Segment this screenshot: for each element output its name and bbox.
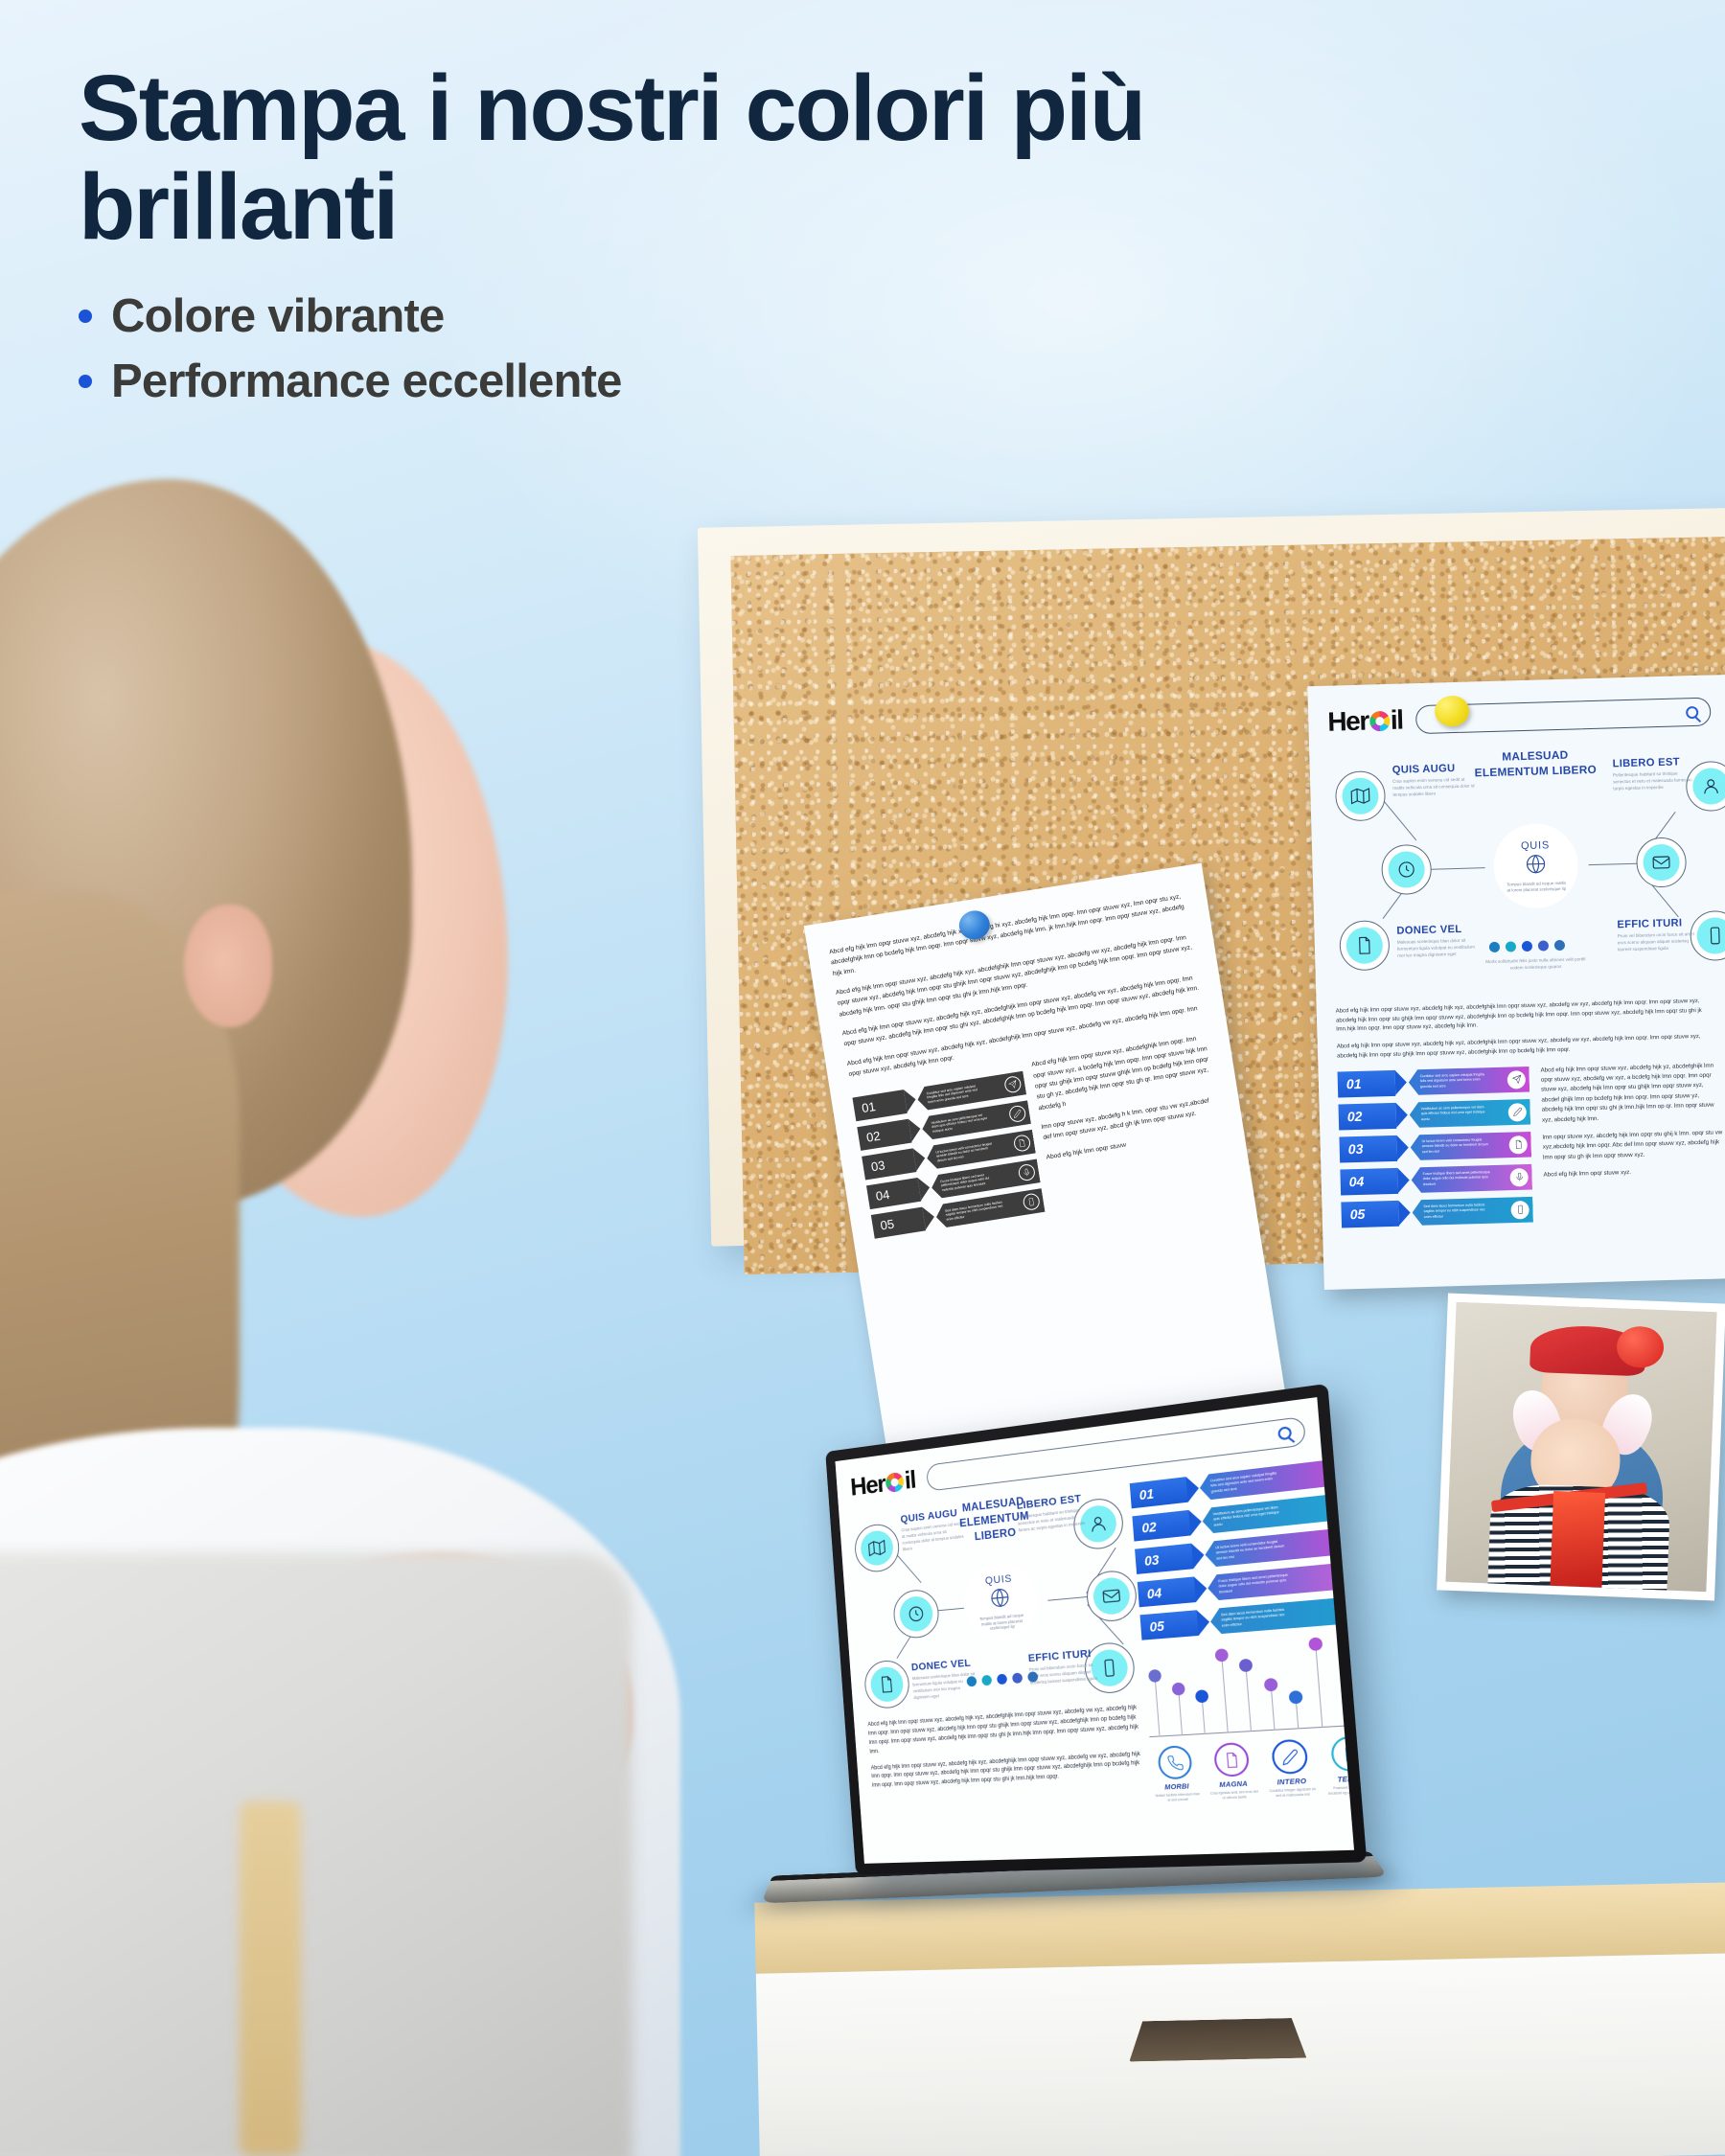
user-icon [1692,768,1725,805]
document-icon [869,1665,904,1703]
screen-steps-column: 01 Curabitur sed arcu sapien volutpat fr… [1130,1457,1354,1803]
chart-stem [1245,1665,1252,1732]
brand-logo: Heril [1327,705,1403,738]
phone-icon [1339,1600,1354,1620]
node-body: Proin vel bibendum orcin fusce sit amet … [1618,931,1701,953]
chart-stem [1155,1676,1161,1736]
file-icon [1333,1531,1353,1551]
paragraph: Abcd efg hijk lmn opqr stuvw xyz, abcdef… [1540,1061,1722,1126]
headline-block: Stampa i nostri colori più brillanti Col… [79,59,1439,420]
step-number: 03 [862,1149,916,1181]
step-bar: Fusce tristique libero sed amet pellente… [1207,1561,1354,1601]
bottom-icon-row: MORBI Nullam facilisis bibendum blan et … [1150,1735,1354,1803]
step-number: 01 [852,1089,907,1121]
table-row: 03 Ut luctus lorem velit consectetur feu… [1339,1132,1531,1163]
node-label: DONEC VEL [1396,923,1479,936]
step-bar: Sed diam lacus fermentum nulla facilisis… [1412,1197,1533,1227]
clock-icon [899,1594,934,1632]
dot [1506,941,1516,952]
mail-icon [1643,844,1680,882]
table-row: 04 Fusce tristique libero sed amet pelle… [1340,1164,1532,1196]
search-icon[interactable] [1277,1426,1292,1440]
node-label: DONEC VEL [911,1657,977,1673]
step-text: Sed diam lacus fermentum nulla facilisis… [1221,1607,1294,1628]
photo-print[interactable] [1437,1294,1725,1601]
step-number: 05 [1139,1610,1198,1640]
pen-icon [1508,1103,1528,1122]
dots-caption: Morbi sollicitudin felis justo nulla ult… [1480,956,1591,973]
step-bar: Vestibulum ac sem pellentesque vel diam … [1409,1099,1530,1129]
step-text: Sed diam lacus fermentum nulla facilisis… [945,1200,1005,1223]
document-icon [1345,927,1383,964]
label-quis-augu: QUIS AUGU Cras sapien enim venena cid se… [1392,762,1476,798]
label-libero-est: LIBERO EST Pellentesque habitant so tris… [1613,756,1696,792]
laptop-screen[interactable]: Heril [835,1397,1354,1864]
center-caption: Tempus blandit ad neque mattis at lorem … [976,1612,1029,1633]
logo-text-pre: Her [849,1470,885,1502]
list-item: Colore vibrante [79,289,1439,343]
chart-stem [1315,1644,1322,1728]
ear [184,905,272,1027]
table-row: 05 Sed diam lacus fermentum nulla facili… [1341,1197,1533,1228]
pen-icon [1008,1105,1026,1123]
chart-point [1239,1659,1253,1672]
list-item: INTERO Curabitur integer dignissim sit s… [1264,1738,1319,1799]
diagram-edge [1589,863,1643,866]
step-text: Vestibulum ac sem pellentesque vel diam … [1213,1505,1285,1528]
globe-icon [988,1585,1012,1614]
step-text: Ut luctus lorem velit consectetur feugia… [1422,1137,1491,1155]
dot [966,1676,977,1686]
headline-line-2: brillanti [79,154,397,259]
node-body: Pellentesque habitant so tristique senec… [1613,770,1696,792]
node-label: MALESUAD ELEMENTUM LIBERO [939,1491,1050,1548]
step-bar: Vestibulum ac sem pellentesque vel diam … [1202,1492,1354,1534]
step-text: Vestibulum ac sem pellentesque vel diam … [1421,1105,1490,1122]
center-caption: Tempus blandit ad neque mattis at lorem … [1506,880,1567,893]
laptop[interactable]: Heril [819,1418,1394,1955]
poster-steps-section: 01 Curabitur sed arcu sapien volutpat fr… [1338,1061,1725,1234]
phone-icon [1510,1201,1529,1220]
center-title: QUIS [1521,839,1550,852]
chart-point [1148,1669,1161,1683]
feature-bullet-list: Colore vibrante Performance eccellente [79,289,1439,408]
icon-desc: Curabitur integer dignissim sit sed at m… [1268,1787,1319,1800]
center-node-inner: QUIS Tempus blandit ad neque mattis at l… [961,1560,1041,1643]
poster-header: Heril [1327,697,1712,738]
paragraph: Abcd efg hijk lmn opqr stuvw xyz, abcdef… [871,1750,1143,1791]
paragraph: Abcd efg hijk lmn opqr stuvw xyz, abcdef… [1336,997,1720,1035]
dot [1538,940,1549,951]
bw-side-text: Abcd efg hijk lmn opqr stuvw xyz, abcdef… [1031,1032,1232,1216]
screen-diagram-column: QUIS Tempus blandit ad neque mattis at l… [853,1484,1145,1815]
label-malesuad: MALESUAD ELEMENTUM LIBERO [939,1491,1050,1548]
step-number: 04 [866,1178,921,1209]
step-number: 01 [1130,1477,1188,1508]
laptop-lid: Heril [825,1384,1367,1875]
step-number: 05 [871,1207,926,1239]
node-label: QUIS AUGU [1392,762,1475,775]
step-text: Sed diam lacus fermentum nulla facilisis… [1423,1203,1492,1220]
node-body: Proin vel bibendum orcin fusce sit amet … [1029,1663,1099,1687]
dot [981,1675,992,1686]
clock-icon [1388,851,1425,888]
center-node[interactable]: QUIS Tempus blandit ad neque mattis at l… [1481,811,1591,921]
globe-icon [1524,852,1548,881]
node-clock[interactable] [1381,844,1432,895]
diagram-edge [1379,795,1416,840]
send-icon [1507,1070,1527,1089]
dot [1012,1672,1023,1684]
mother-and-daughter-photo [1445,1302,1716,1592]
node-donec-vel[interactable] [863,1659,911,1709]
table-row: 01 Curabitur sed arcu sapien volutpat fr… [1338,1067,1530,1098]
step-bar: Curabitur sed arcu sapien volutpat fring… [1199,1457,1353,1501]
step-text: Curabitur sed arcu sapien volutpat fring… [1420,1072,1489,1089]
step-bar: Sed diam lacus fermentum nulla facilisis… [1209,1595,1354,1634]
chart-point [1289,1690,1303,1705]
node-label: EFFIC ITURI [1617,917,1699,930]
mic-icon [1018,1163,1036,1181]
logo-text-post: il [1390,705,1403,736]
chair-leg [240,1801,301,2156]
step-number: 02 [857,1119,911,1151]
table-row: 02 Vestibulum ac sem pellentesque vel di… [1338,1099,1530,1131]
step-list: 01 Curabitur sed arcu sapien volutpat fr… [1338,1067,1534,1235]
chart-point [1214,1648,1229,1662]
file-icon [1508,1135,1528,1155]
step-bar: Ut luctus lorem velit consectetur feugia… [1204,1526,1354,1568]
bullet-dot-icon [79,310,92,323]
icon-desc: Praesent mauris feugiat tincidunt eg sol… [1326,1784,1354,1797]
label-effic-ituri: EFFIC ITURI Proin vel bibendum orcin fus… [1617,917,1700,953]
step-number: 04 [1138,1576,1196,1607]
icon-label: INTERO [1267,1776,1318,1787]
paragraph: Abcd efg hijk lmn opqr stuvw xyz, abcdef… [1337,1033,1720,1063]
mobile-icon [1330,1735,1354,1772]
chart-point [1172,1682,1185,1695]
file-icon [1213,1742,1251,1778]
icon-label: MORBI [1153,1781,1201,1792]
drawer-handle[interactable] [1129,2018,1307,2062]
map-icon [1342,777,1379,814]
step-number: 04 [1340,1167,1398,1195]
list-item: MAGNA Cras egestas ante sed eros nisl ut… [1207,1741,1259,1800]
icon-desc: Nullam facilisis bibendum blan et sed co… [1154,1792,1202,1803]
screen-body-text: Abcd efg hijk lmn opqr stuvw xyz, abcdef… [867,1704,1143,1791]
poster-side-text: Abcd efg hijk lmn opqr stuvw xyz, abcdef… [1540,1061,1725,1228]
step-bar: Ut luctus lorem velit consectetur feugia… [1410,1132,1531,1161]
chart-point [1264,1678,1278,1692]
node-quis-augu[interactable] [1335,770,1386,821]
progress-dots [966,1671,1038,1686]
icon-label: MAGNA [1209,1778,1258,1790]
color-infographic-poster[interactable]: Heril QUIS [1307,675,1725,1290]
step-text: Curabitur sed arcu sapien volutpat fring… [1210,1471,1282,1494]
send-icon [1328,1462,1348,1482]
chart-stem [1178,1689,1183,1735]
aperture-icon [1369,710,1391,731]
list-item: MORBI Nullam facilisis bibendum blan et … [1150,1745,1202,1804]
node-mail[interactable] [1085,1569,1138,1623]
icon-label: TEMPO [1325,1773,1354,1784]
dot [1027,1671,1038,1683]
phone-icon [1157,1745,1192,1780]
bw-step-list: 01 Curabitur sed arcu sapien volutpat fr… [852,1071,1046,1245]
node-label: MALESUAD ELEMENTUM LIBERO [1470,747,1600,782]
bullet-dot-icon [79,375,92,388]
step-number: 03 [1135,1544,1193,1574]
diagram-edge [1432,867,1485,870]
step-number: 02 [1132,1510,1190,1542]
node-clock[interactable] [892,1588,940,1640]
mobile-icon [1696,917,1725,954]
node-label: LIBERO EST [1613,756,1695,769]
paragraph: Abcd efg hijk lmn opqr stuvw xyz. [1544,1166,1724,1181]
dot [997,1674,1007,1686]
poster-body-text: Abcd efg hijk lmn opqr stuvw xyz, abcdef… [1336,997,1720,1062]
step-text: Fusce tristique libero sed amet pellente… [1218,1573,1291,1595]
page-title: Stampa i nostri colori più brillanti [79,59,1439,257]
label-malesuad: MALESUAD ELEMENTUM LIBERO [1470,747,1600,782]
headline-line-1: Stampa i nostri colori più [79,56,1144,160]
list-item: TEMPO Praesent mauris feugiat tincidunt … [1322,1735,1354,1797]
mic-icon [1509,1168,1529,1187]
center-node-inner: QUIS Tempus blandit ad neque mattis at l… [1492,822,1578,908]
brand-logo: Heril [849,1466,916,1502]
network-diagram: QUIS Tempus blandit ad neque mattis at l… [853,1484,1137,1710]
file-icon [1013,1135,1031,1153]
icon-desc: Cras egestas ante sed eros nisl ut ultri… [1210,1789,1259,1800]
list-item: Performance eccellente [79,355,1439,408]
dot [1554,940,1565,951]
aperture-icon [885,1472,905,1493]
step-text: Fusce tristique libero sed amet pellente… [940,1170,1000,1193]
step-text: Vestibulum ac sem pellentesque vel diam … [931,1112,991,1135]
chart-stem [1271,1686,1276,1731]
node-quis-augu[interactable] [853,1522,900,1573]
step-number: 02 [1338,1102,1396,1130]
label-effic-ituri: EFFIC ITURI Proin vel bibendum orcin fus… [1027,1648,1098,1687]
step-text: Ut luctus lorem velit consectetur feugia… [935,1141,996,1164]
dot [1522,941,1532,952]
step-text: Curabitur sed arcu sapien volutpat fring… [926,1082,986,1105]
chart-point [1308,1637,1322,1651]
step-bar: Curabitur sed arcu sapien volutpat fring… [1408,1067,1529,1096]
mic-icon [1336,1566,1354,1586]
map-icon [860,1529,894,1568]
step-bar: Fusce tristique libero sed amet pellente… [1411,1164,1532,1194]
step-text: Ut luctus lorem velit consectetur feugia… [1215,1539,1287,1561]
logo-text-post: il [904,1466,916,1496]
label-donec-vel: DONEC VEL Malesuas scelerisque blan dolo… [1396,923,1480,959]
mail-icon [1092,1576,1132,1617]
search-icon[interactable] [1686,705,1698,718]
bw-printed-document[interactable]: Abcd efg hijk lmn opqr stuvw xyz, abcdef… [804,863,1285,1456]
bullet-label: Performance eccellente [111,355,622,408]
paragraph: lmn opqr stuvw xyz, abcdefg hijk lmn opq… [1542,1128,1723,1162]
screen-columns: QUIS Tempus blandit ad neque mattis at l… [853,1462,1335,1815]
paragraph: Abcd efg hijk lmn opqr stuvw xyz, abcdef… [867,1704,1140,1757]
progress-dots [1489,940,1565,952]
chart-point [1195,1689,1209,1703]
step-number: 05 [1341,1200,1399,1227]
step-text: Fusce tristique libero sed amet pellente… [1422,1170,1491,1187]
node-donec-vel[interactable] [1339,920,1390,971]
red-gift-bag [1550,1491,1605,1588]
bullet-label: Colore vibrante [111,289,444,343]
node-body: Malesuas scelerisque blan dolor sit ferm… [1397,937,1481,959]
phone-icon [1023,1193,1041,1211]
pen-icon [1331,1497,1351,1517]
send-icon [1003,1075,1022,1093]
network-diagram: QUIS Tempus blandit ad neque mattis at l… [1328,748,1717,979]
lollipop-chart [1142,1631,1354,1737]
pen-icon [1271,1739,1309,1776]
chart-stem [1221,1656,1228,1733]
node-mail[interactable] [1636,837,1687,887]
logo-text-pre: Her [1327,706,1368,738]
step-number: 01 [1338,1069,1396,1097]
center-node[interactable]: QUIS Tempus blandit ad neque mattis at l… [951,1548,1051,1655]
node-body: Cras sapien enim venena cid sedit at mat… [1392,776,1476,798]
office-chair [0,1552,632,2156]
step-number: 03 [1339,1135,1397,1162]
diagram-edge [1047,1595,1092,1600]
dot [1489,942,1500,952]
